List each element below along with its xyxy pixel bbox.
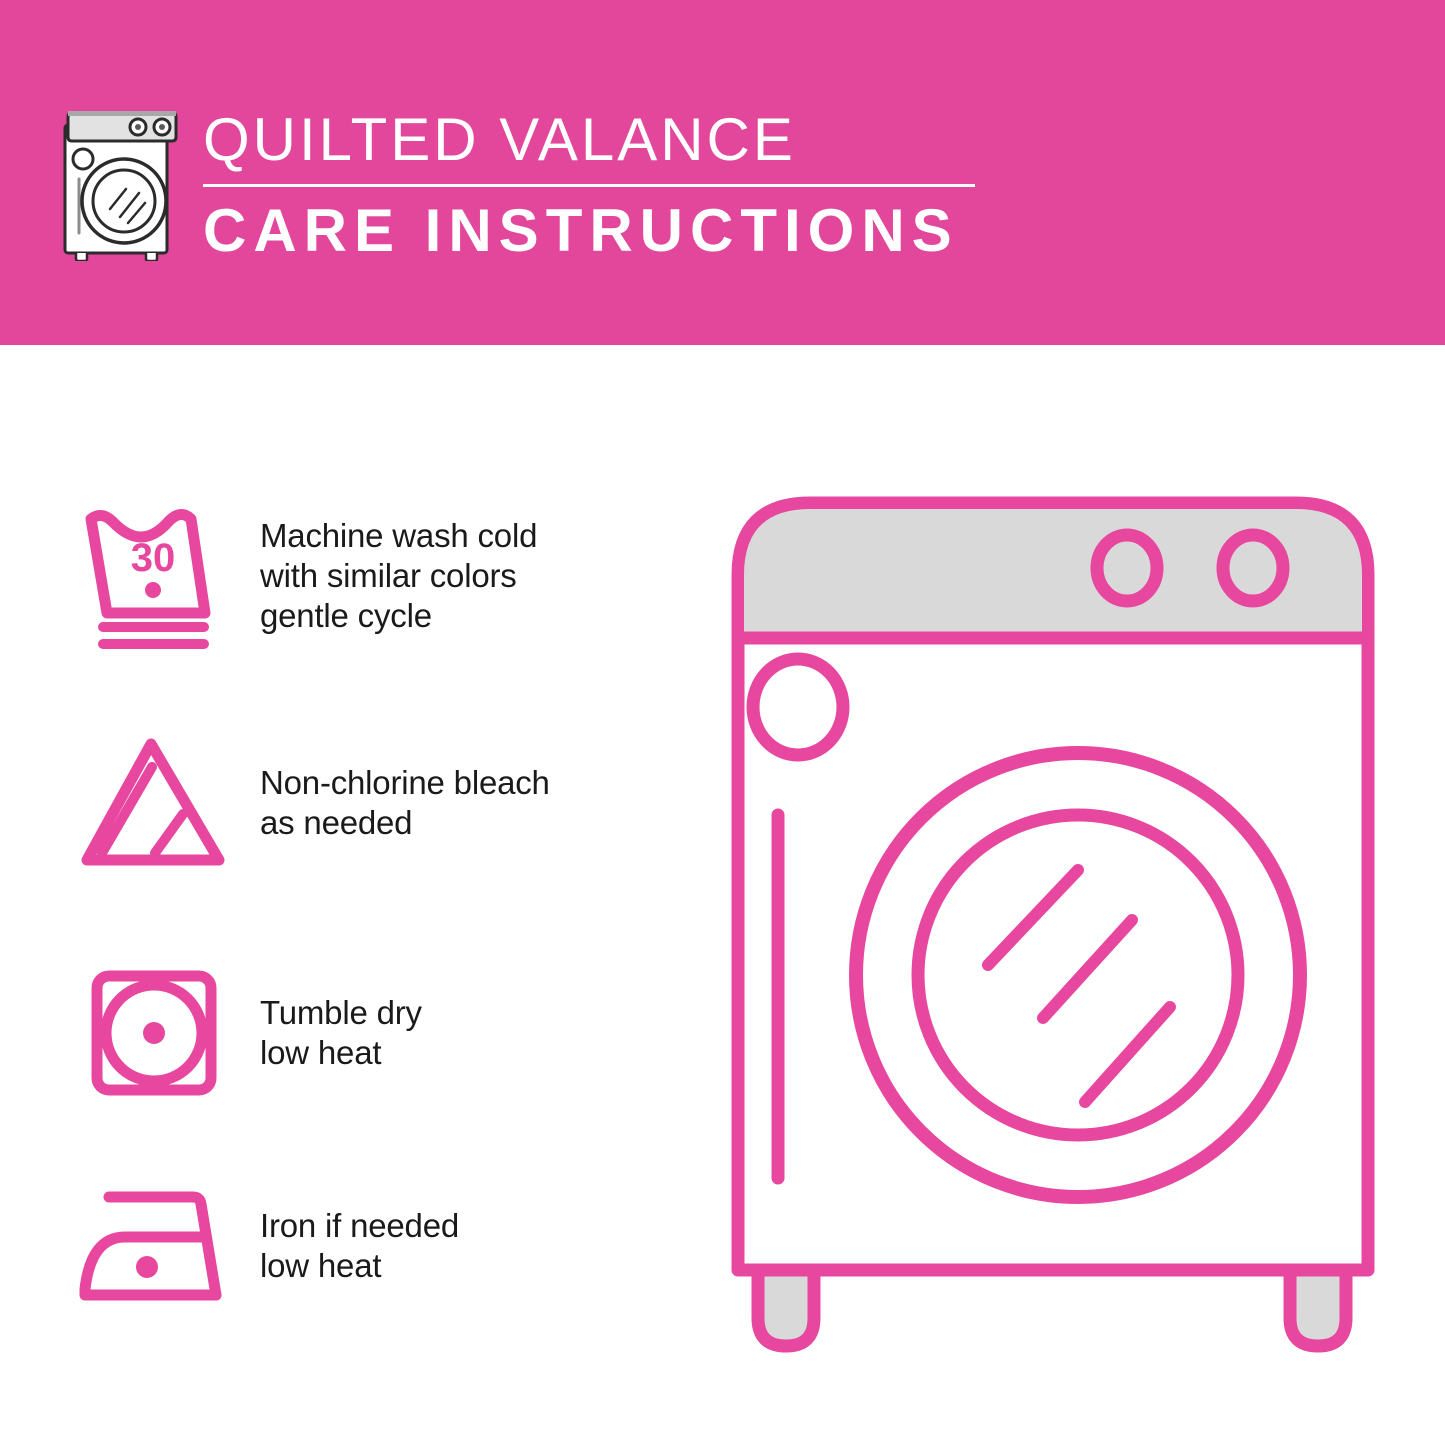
care-row-label: Tumble dry low heat	[260, 993, 422, 1073]
machine-leg	[1290, 1270, 1346, 1346]
care-row-label: Non-chlorine bleach as needed	[260, 763, 550, 843]
control-knob	[1223, 535, 1283, 601]
control-knob	[1097, 535, 1157, 601]
care-line: with similar colors	[260, 556, 537, 596]
header-text-block: QUILTED VALANCE CARE INSTRUCTIONS	[203, 104, 983, 266]
svg-text:30: 30	[130, 536, 175, 580]
page-subtitle: CARE INSTRUCTIONS	[203, 196, 983, 266]
header-banner: QUILTED VALANCE CARE INSTRUCTIONS	[0, 0, 1445, 345]
care-line: Non-chlorine bleach	[260, 763, 550, 803]
care-line: as needed	[260, 803, 550, 843]
iron-low-heat-icon	[70, 1163, 235, 1328]
care-row-machine-wash: 30 Machine wash cold with similar colors…	[70, 493, 640, 658]
washing-machine-icon	[60, 103, 188, 261]
machine-leg	[758, 1270, 814, 1346]
title-divider	[203, 184, 975, 187]
care-instructions-page: QUILTED VALANCE CARE INSTRUCTIONS 30	[0, 0, 1445, 1445]
care-row-tumble-dry: Tumble dry low heat	[70, 950, 640, 1115]
page-title: QUILTED VALANCE	[203, 104, 983, 176]
care-line: Machine wash cold	[260, 516, 537, 556]
care-row-bleach: Non-chlorine bleach as needed	[70, 720, 640, 885]
care-line: gentle cycle	[260, 596, 537, 636]
bleach-triangle-icon	[70, 720, 235, 885]
care-row-label: Iron if needed low heat	[260, 1206, 459, 1286]
care-line: low heat	[260, 1246, 459, 1286]
care-line: Tumble dry	[260, 993, 422, 1033]
care-line: Iron if needed	[260, 1206, 459, 1246]
care-row-label: Machine wash cold with similar colors ge…	[260, 516, 537, 636]
large-washing-machine-illustration	[700, 470, 1400, 1380]
tumble-dry-low-icon	[70, 950, 235, 1115]
care-line: low heat	[260, 1033, 422, 1073]
wash-tub-30-icon: 30	[70, 493, 235, 658]
care-row-iron: Iron if needed low heat	[70, 1163, 640, 1328]
